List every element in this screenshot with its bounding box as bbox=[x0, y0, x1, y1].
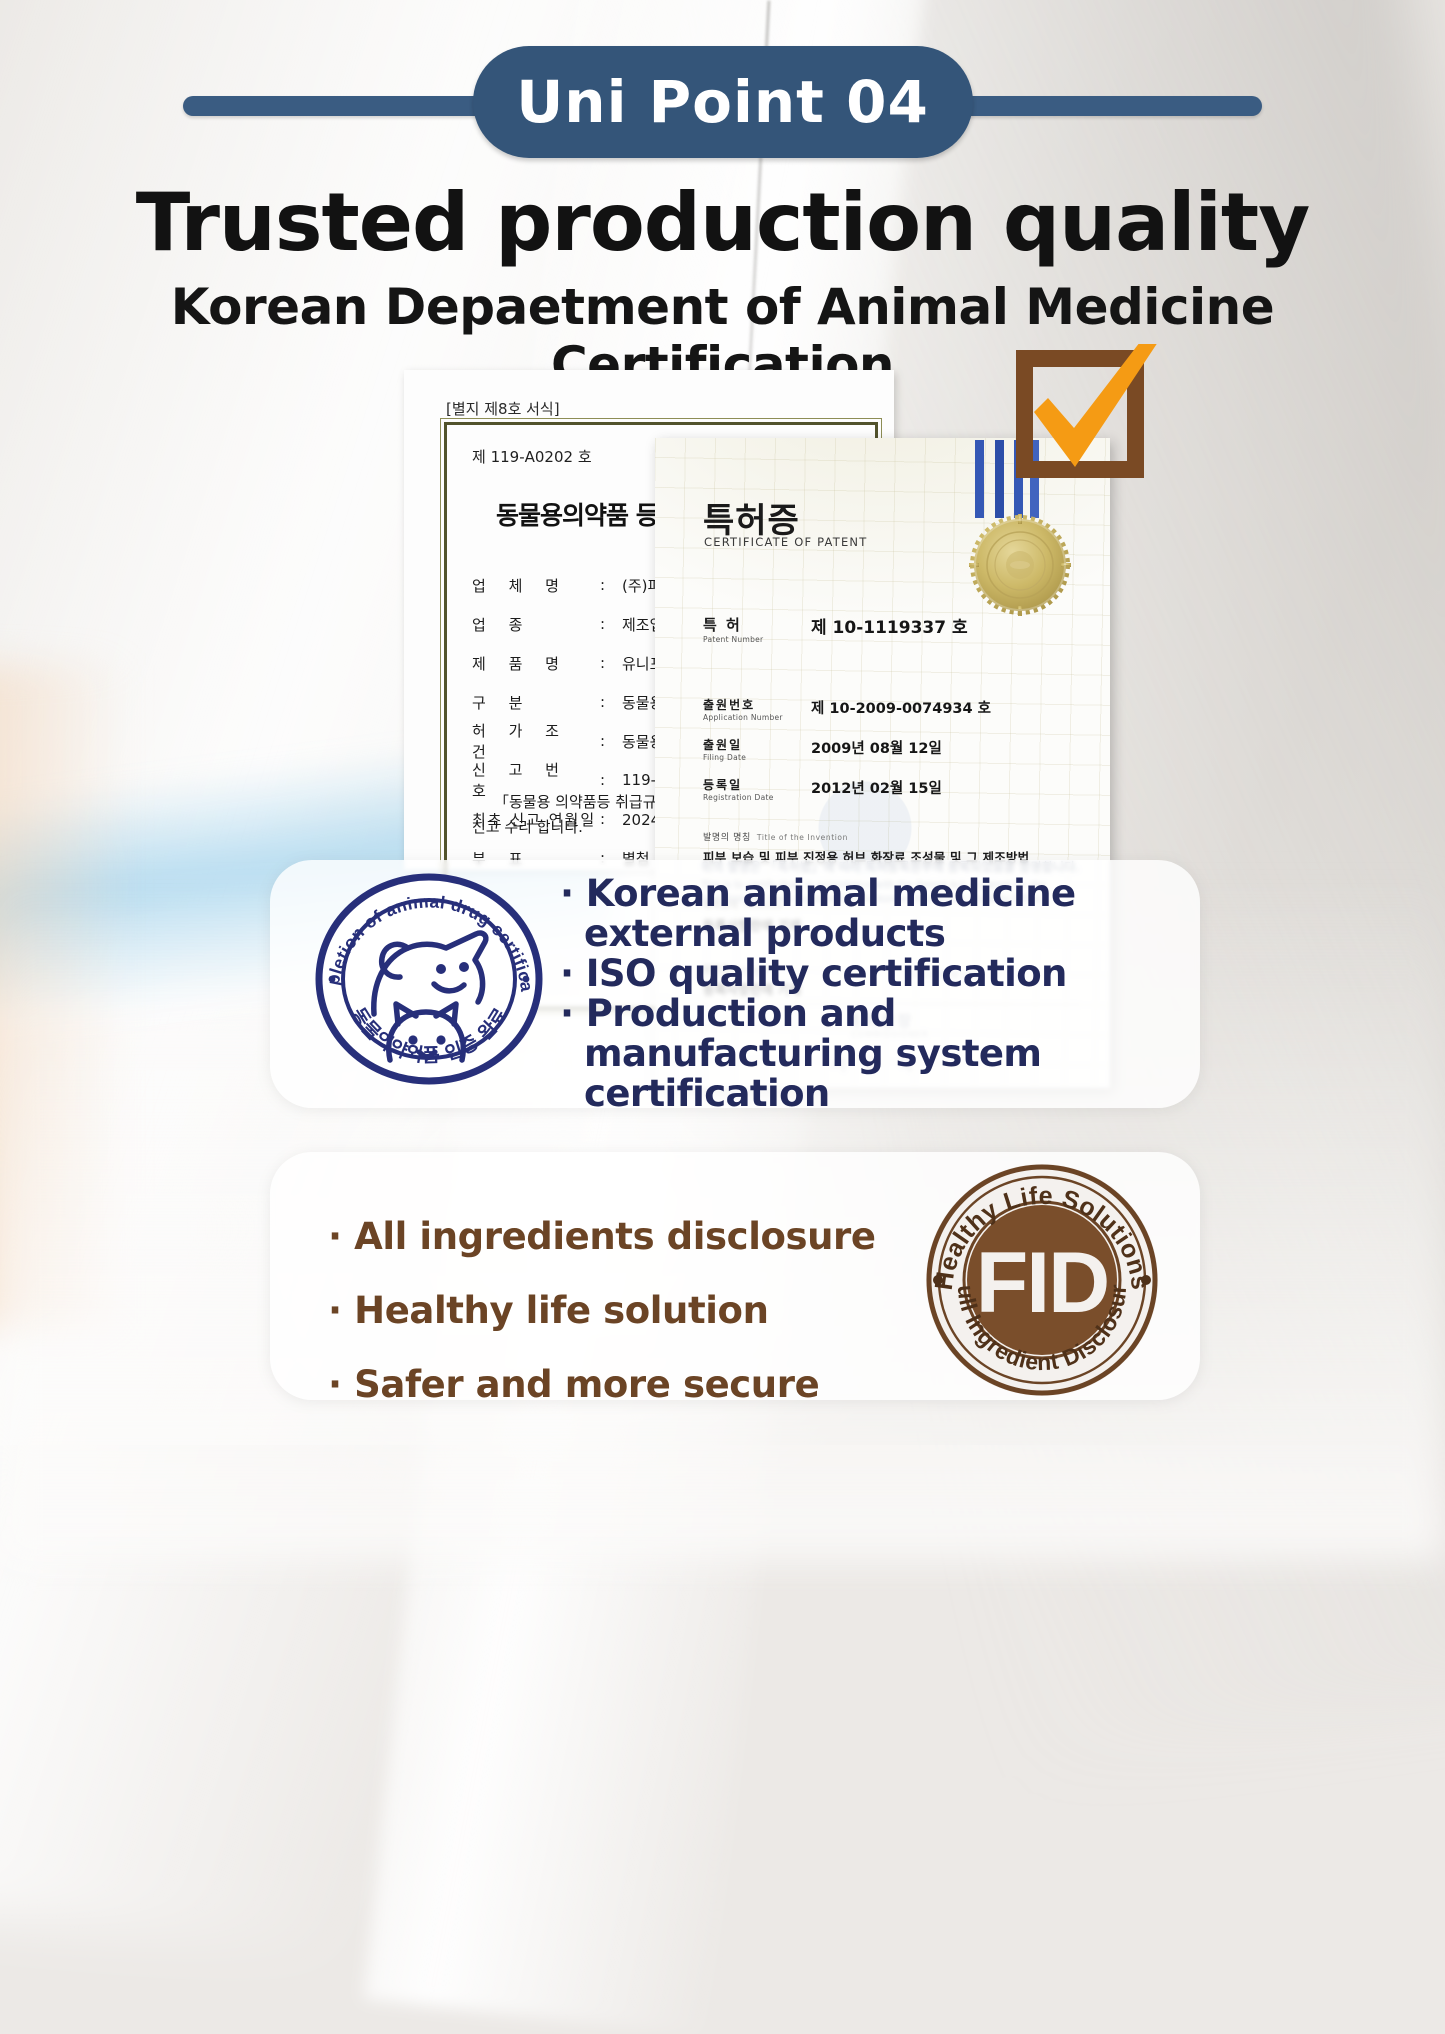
checkbox-tick-icon bbox=[1012, 344, 1162, 494]
field-key: 제 품 명 bbox=[472, 653, 600, 674]
row-key-kr: 출원일 bbox=[703, 736, 746, 753]
row-key-kr: 출원번호 bbox=[703, 696, 783, 713]
block-key-en: Title of the Invention bbox=[751, 833, 848, 842]
field-key: 허 가 조 건 bbox=[472, 720, 600, 762]
patent-title-en: CERTIFICATE OF PATENT bbox=[704, 535, 867, 549]
row-value: 2009년 08월 12일 bbox=[811, 737, 942, 758]
closing-line-2: 신고 수리 합니다. bbox=[472, 818, 583, 836]
fid-monogram: FID bbox=[976, 1235, 1109, 1331]
block-key: 발명의 명칭Title of the Invention bbox=[703, 830, 1029, 843]
field-key: 업 체 명 bbox=[472, 575, 600, 596]
field-key: 구 분 bbox=[472, 692, 600, 713]
patent-number-key-en: Patent Number bbox=[703, 635, 763, 644]
row-key-en: Application Number bbox=[703, 713, 783, 722]
row-value: 제 10-2009-0074934 호 bbox=[811, 697, 991, 718]
certificate-number: 제 119-A0202 호 bbox=[472, 446, 592, 467]
field-colon: : bbox=[600, 732, 622, 750]
field-key: 업 종 bbox=[472, 614, 600, 635]
certification-bullet-list: Korean animal medicine external products… bbox=[560, 874, 1180, 1114]
row-key-en: Filing Date bbox=[703, 753, 746, 762]
field-colon: : bbox=[600, 771, 622, 789]
certificate-title: 동물용의약품 등 bbox=[496, 496, 658, 532]
field-colon: : bbox=[600, 693, 622, 711]
patent-number-value: 제 10-1119337 호 bbox=[811, 613, 968, 638]
gold-embossed-seal-icon bbox=[967, 512, 1073, 618]
list-item: Production and manufacturing system cert… bbox=[560, 994, 1180, 1114]
list-item: Korean animal medicine external products bbox=[560, 874, 1180, 954]
filing-date-row: 출원일 Filing Date 2009년 08월 12일 bbox=[703, 736, 746, 762]
fid-logo-icon: Healthy Life Solutions Full Ingredient D… bbox=[922, 1160, 1162, 1400]
list-item: ISO quality certification bbox=[560, 954, 1180, 994]
list-item: Safer and more secure bbox=[328, 1348, 888, 1422]
list-item: Healthy life solution bbox=[328, 1274, 888, 1348]
application-number-row: 출원번호 Application Number 제 10-2009-007493… bbox=[703, 696, 783, 722]
block-key-kr: 발명의 명칭 bbox=[703, 833, 751, 843]
field-colon: : bbox=[600, 576, 622, 594]
field-colon: : bbox=[600, 654, 622, 672]
patent-number-key-kr: 특 허 bbox=[703, 614, 763, 635]
form-tag: [별지 제8호 서식] bbox=[446, 398, 560, 419]
field-colon: : bbox=[600, 615, 622, 633]
row-key-en: Registration Date bbox=[703, 793, 774, 802]
animal-drug-certification-seal-icon: Completion of animal drug certification … bbox=[312, 872, 547, 1086]
patent-number-row: 특 허 Patent Number 제 10-1119337 호 bbox=[703, 614, 763, 644]
registration-date-row: 등록일 Registration Date 2012년 02월 15일 bbox=[703, 776, 774, 802]
quality-bullet-list: All ingredients disclosure Healthy life … bbox=[328, 1200, 888, 1422]
row-value: 2012년 02월 15일 bbox=[811, 777, 942, 798]
row-key-kr: 등록일 bbox=[703, 776, 774, 793]
list-item: All ingredients disclosure bbox=[328, 1200, 888, 1274]
